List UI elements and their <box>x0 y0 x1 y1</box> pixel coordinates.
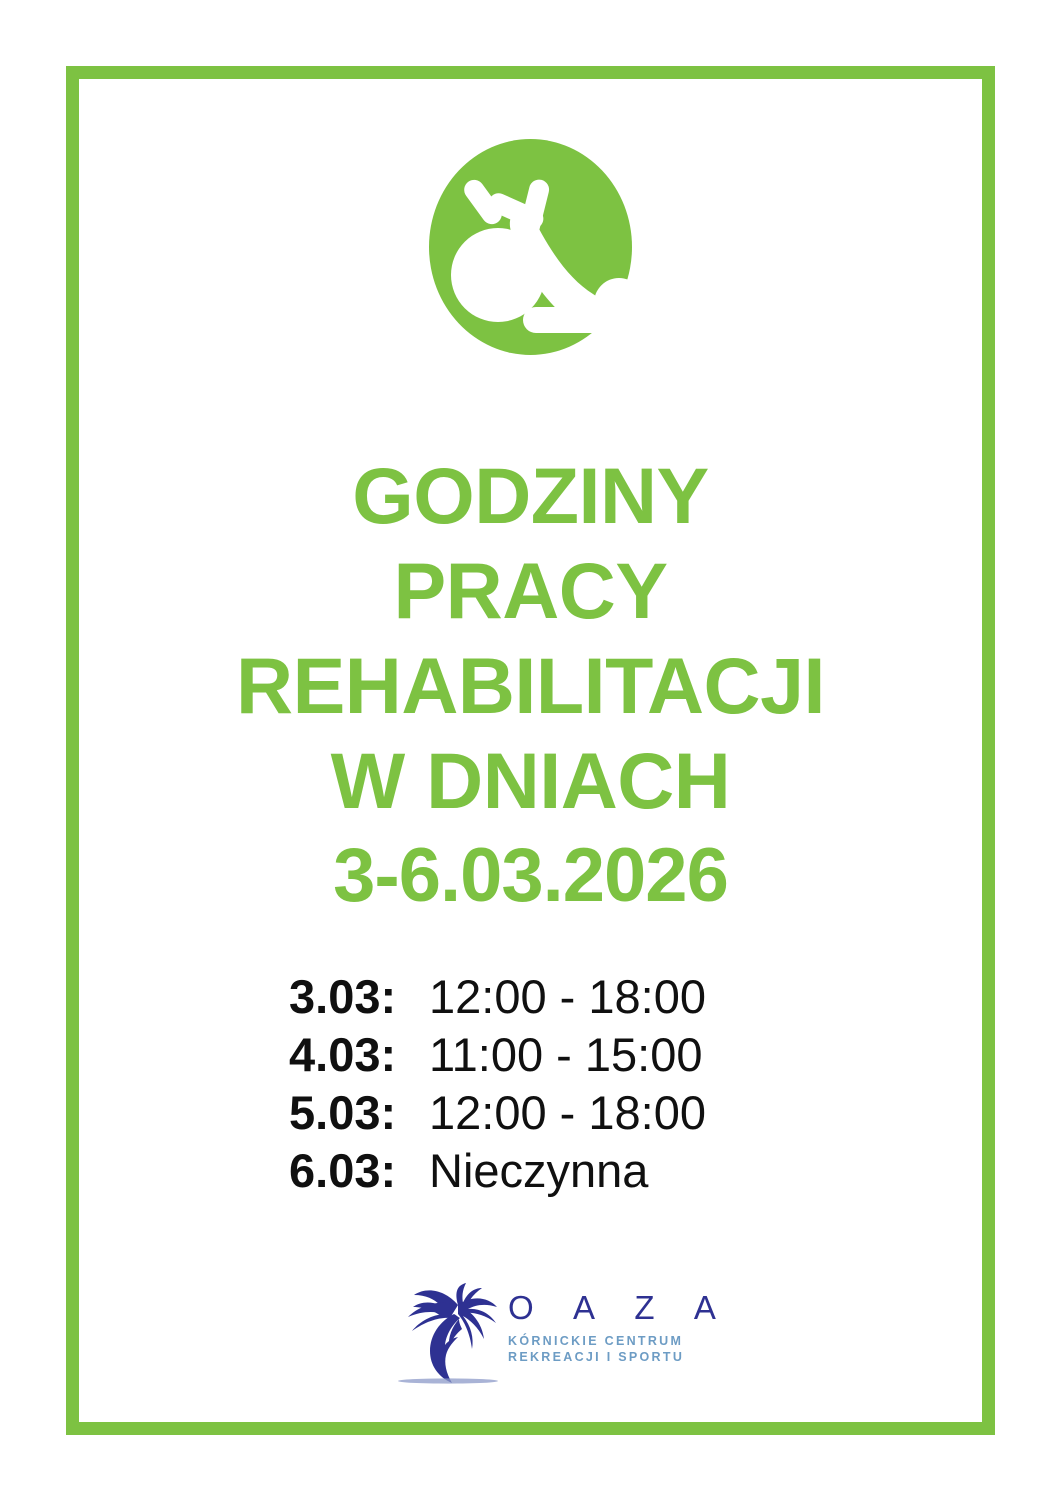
title-line-3: REHABILITACJI <box>120 638 941 733</box>
title-line-2: PRACY <box>120 543 941 638</box>
palm-tree-icon <box>396 1283 506 1388</box>
schedule-hours: Nieczynna <box>429 1142 648 1200</box>
logo-subtitle-line-2: REKREACJI I SPORTU <box>508 1349 688 1365</box>
logo-name: O A Z A <box>508 1289 688 1327</box>
schedule-hours: 12:00 - 18:00 <box>429 1084 706 1142</box>
schedule-day: 4.03: <box>289 1026 429 1084</box>
logo-subtitle: KÓRNICKIE CENTRUM REKREACJI I SPORTU <box>508 1333 688 1365</box>
list-item: 5.03: 12:00 - 18:00 <box>289 1084 809 1142</box>
title-date-range: 3-6.03.2026 <box>120 828 941 923</box>
title-line-4: W DNIACH <box>120 733 941 828</box>
schedule-day: 6.03: <box>289 1142 429 1200</box>
logo-subtitle-line-1: KÓRNICKIE CENTRUM <box>508 1333 688 1349</box>
oaza-logo: O A Z A KÓRNICKIE CENTRUM REKREACJI I SP… <box>396 1283 686 1391</box>
rehabilitation-exercise-ball-icon <box>429 139 632 355</box>
schedule-day: 3.03: <box>289 968 429 1026</box>
schedule-day: 5.03: <box>289 1084 429 1142</box>
schedule-hours: 12:00 - 18:00 <box>429 968 706 1026</box>
schedule-hours: 11:00 - 15:00 <box>429 1026 703 1084</box>
title-line-1: GODZINY <box>120 448 941 543</box>
poster-root: GODZINY PRACY REHABILITACJI W DNIACH 3-6… <box>0 0 1061 1500</box>
logo-wordmark: O A Z A KÓRNICKIE CENTRUM REKREACJI I SP… <box>508 1289 688 1365</box>
list-item: 3.03: 12:00 - 18:00 <box>289 968 809 1026</box>
list-item: 6.03: Nieczynna <box>289 1142 809 1200</box>
page-title: GODZINY PRACY REHABILITACJI W DNIACH 3-6… <box>120 448 941 923</box>
opening-hours-list: 3.03: 12:00 - 18:00 4.03: 11:00 - 15:00 … <box>289 968 809 1200</box>
list-item: 4.03: 11:00 - 15:00 <box>289 1026 809 1084</box>
